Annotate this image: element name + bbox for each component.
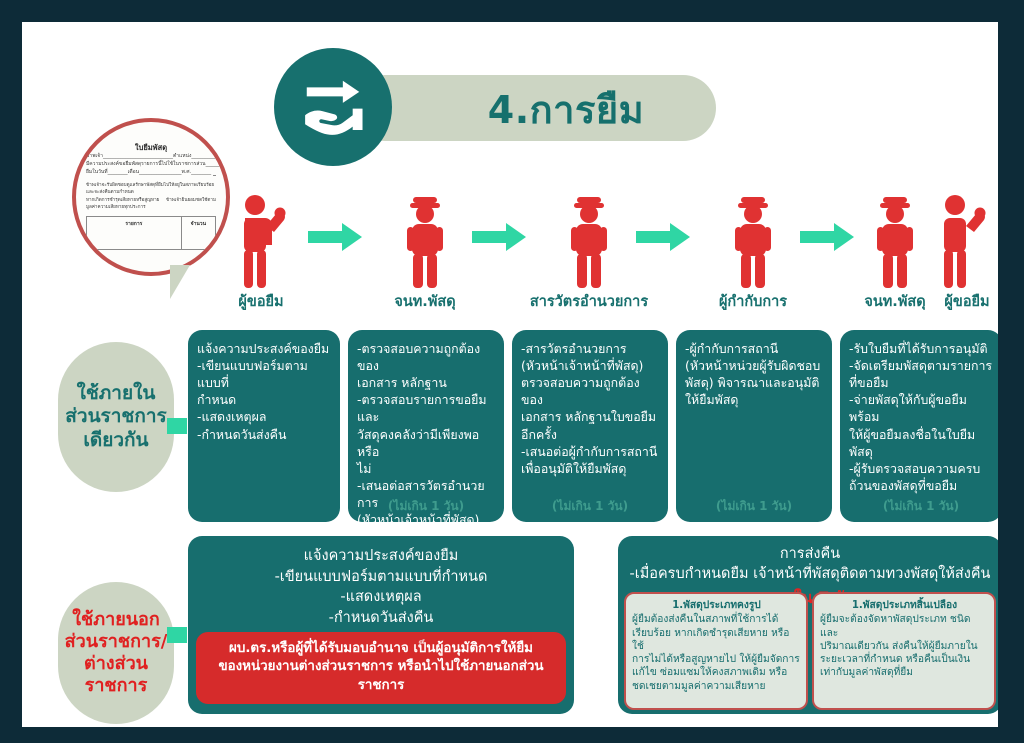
step-line: กำหนด bbox=[197, 391, 331, 408]
step-line: ถ้วนของพัสดุที่ขอยืม bbox=[849, 477, 993, 494]
step-duration-note: (ไม่เกิน 1 วัน) bbox=[512, 498, 668, 515]
sub-box-line: เท่ากับมูลค่าพัสดุที่ยืม bbox=[820, 666, 989, 679]
step-box-1: แจ้งความประสงค์ของยืม -เขียนแบบฟอร์มตามแ… bbox=[188, 330, 340, 522]
callout-line: ผบ.ตร.หรือผู้ที่ได้รับมอบอำนาจ เป็นผู้อน… bbox=[202, 640, 560, 659]
category-line: ใช้ภายนอก bbox=[72, 609, 160, 630]
external-request-box: แจ้งความประสงค์ของยืม -เขียนแบบฟอร์มตามแ… bbox=[188, 536, 574, 714]
step-line: -กำหนดวันส่งคืน bbox=[197, 426, 331, 443]
sub-box-line: ผู้ยืมจะต้องจัดหาพัสดุประเภท ชนิด และ bbox=[820, 613, 989, 640]
request-line: -กำหนดวันส่งคืน bbox=[200, 608, 562, 629]
form-paragraph: หากเกิดการชำรุดเสียหายหรือสูญหาย ข้าพเจ้… bbox=[86, 198, 216, 211]
person-raising-hand-icon bbox=[230, 192, 292, 292]
step-line: ตรวจสอบความถูกต้องของ bbox=[521, 374, 659, 408]
step-line: -จัดเตรียมพัสดุตามรายการ bbox=[849, 357, 993, 374]
arrow-right-icon bbox=[470, 220, 528, 254]
step-duration-note: (ไม่เกิน 1 วัน) bbox=[348, 498, 504, 515]
step-line: ให้ผู้ขอยืมลงชื่อในใบยืมพัสดุ bbox=[849, 426, 993, 460]
step-line: วัสดุคงคลังว่ามีเพียงพอหรือ bbox=[357, 426, 495, 460]
step-line: -จ่ายพัสดุให้กับผู้ขอยืมพร้อม bbox=[849, 391, 993, 425]
step-line: แจ้งความประสงค์ของยืม bbox=[197, 340, 331, 357]
sub-box-line: การไม่ได้หรือสูญหายไป ให้ผู้ยืมจัดการ bbox=[632, 653, 801, 666]
step-line: (หัวหน้าหน่วยผู้รับผิดชอบ bbox=[685, 357, 823, 374]
return-line: การส่งคืน bbox=[628, 544, 992, 564]
form-table: รายการ จำนวน bbox=[86, 216, 216, 250]
step-box-2: -ตรวจสอบความถูกต้องของ เอกสาร หลักฐาน -ต… bbox=[348, 330, 504, 522]
officer-with-cap-icon bbox=[394, 192, 456, 292]
step-line: อีกครั้ง bbox=[521, 426, 659, 443]
officer-with-cap-icon bbox=[864, 192, 926, 292]
step-line: ไม่ bbox=[357, 460, 495, 477]
borrow-form-photo: ใบยืมพัสดุ ข้าพเจ้า_____________________… bbox=[72, 118, 230, 276]
slide-page: 4.การยืม ใบยืมพัสดุ ข้าพเจ้า____________… bbox=[0, 0, 1024, 743]
request-line: -เขียนแบบฟอร์มตามแบบที่กำหนด bbox=[200, 567, 562, 588]
step-duration-note: (ไม่เกิน 1 วัน) bbox=[840, 498, 998, 515]
step-box-3: -สารวัตรอำนวยการ (หัวหน้าเจ้าหน้าที่พัสด… bbox=[512, 330, 668, 522]
category-line: ส่วนราชการ bbox=[65, 405, 166, 427]
step-line: เอกสาร หลักฐาน bbox=[357, 374, 495, 391]
flow-label-1: ผู้ขอยืม bbox=[200, 290, 322, 313]
step-duration-note: (ไม่เกิน 1 วัน) bbox=[676, 498, 832, 515]
arrow-right-icon bbox=[634, 220, 692, 254]
form-table-header: จำนวน bbox=[182, 217, 215, 249]
return-policy-box: การส่งคืน -เมื่อครบกำหนดยืม เจ้าหน้าที่พ… bbox=[618, 536, 998, 714]
officer-with-cap-icon bbox=[558, 192, 620, 292]
step-line: -ตรวจสอบความถูกต้องของ bbox=[357, 340, 495, 374]
sub-box-line: ผู้ยืมต้องส่งคืนในสภาพที่ใช้การได้ bbox=[632, 613, 801, 626]
flow-label-6: ผู้ขอยืม bbox=[922, 290, 998, 313]
request-line: -แสดงเหตุผล bbox=[200, 587, 562, 608]
sub-box-line: ชดเชยตามมูลค่าความเสียหาย bbox=[632, 680, 801, 693]
return-type-durable-box: 1.พัสดุประเภทคงรูป ผู้ยืมต้องส่งคืนในสภา… bbox=[624, 592, 808, 710]
form-paragraph: ข้าพเจ้าจะรับผิดชอบดูแลรักษาพัสดุที่ยืมไ… bbox=[86, 183, 216, 196]
slide-canvas: 4.การยืม ใบยืมพัสดุ ข้าพเจ้า____________… bbox=[22, 22, 998, 727]
form-field-row: ยืมในวันที่________เดือน________________… bbox=[86, 175, 216, 176]
callout-line: ของหน่วยงานต่างส่วนราชการ หรือนำไปใช้ภาย… bbox=[202, 658, 560, 696]
category-line: เดียวกัน bbox=[83, 429, 148, 451]
arrow-right-icon bbox=[306, 220, 364, 254]
step-line: -เสนอต่อผู้กำกับการสถานี bbox=[521, 443, 659, 460]
sub-box-line: แก้ไข ซ่อมแซมให้คงสภาพเดิม หรือ bbox=[632, 666, 801, 679]
category-line: ใช้ภายใน bbox=[77, 382, 156, 404]
step-line: พัสดุ) พิจารณาและอนุมัติ bbox=[685, 374, 823, 391]
step-line: -แสดงเหตุผล bbox=[197, 408, 331, 425]
sub-box-line: ระยะเวลาที่กำหนด หรือคืนเป็นเงิน bbox=[820, 653, 989, 666]
step-line: ให้ยืมพัสดุ bbox=[685, 391, 823, 408]
category-line: ส่วนราชการ/ bbox=[65, 631, 168, 652]
step-line: -ผู้กำกับการสถานี bbox=[685, 340, 823, 357]
connector-tab-external bbox=[167, 627, 187, 643]
step-box-4: -ผู้กำกับการสถานี (หัวหน้าหน่วยผู้รับผิด… bbox=[676, 330, 832, 522]
step-line: เอกสาร หลักฐานใบขอยืม bbox=[521, 408, 659, 425]
page-title: 4.การยืม bbox=[426, 82, 706, 136]
callout-pointer bbox=[170, 265, 190, 299]
category-internal-label: ใช้ภายใน ส่วนราชการ เดียวกัน bbox=[58, 342, 174, 492]
hand-receive-arrow-icon bbox=[274, 48, 392, 166]
flow-label-3: สารวัตรอำนวยการ bbox=[513, 290, 665, 313]
flow-label-4: ผู้กำกับการ bbox=[684, 290, 822, 313]
connector-tab-internal bbox=[167, 418, 187, 434]
person-raising-hand-icon bbox=[930, 192, 992, 292]
step-line: (หัวหน้าเจ้าหน้าที่พัสดุ) bbox=[521, 357, 659, 374]
step-line: -รับใบยืมที่ได้รับการอนุมัติ bbox=[849, 340, 993, 357]
arrow-right-icon bbox=[798, 220, 856, 254]
sub-box-line: ปริมาณเดียวกัน ส่งคืนให้ผู้ยืมภายใน bbox=[820, 640, 989, 653]
step-line: -เขียนแบบฟอร์มตามแบบที่ bbox=[197, 357, 331, 391]
authority-callout: ผบ.ตร.หรือผู้ที่ได้รับมอบอำนาจ เป็นผู้อน… bbox=[196, 632, 566, 704]
return-type-consumable-box: 1.พัสดุประเภทสิ้นเปลือง ผู้ยืมจะต้องจัดห… bbox=[812, 592, 996, 710]
sub-box-line: เรียบร้อย หากเกิดชำรุดเสียหาย หรือใช้ bbox=[632, 627, 801, 654]
form-table-header: รายการ bbox=[87, 217, 182, 249]
officer-with-cap-icon bbox=[722, 192, 784, 292]
sub-box-heading: 1.พัสดุประเภทสิ้นเปลือง bbox=[820, 599, 989, 612]
step-line: -ผู้รับตรวจสอบความครบ bbox=[849, 460, 993, 477]
return-heading: การส่งคืน -เมื่อครบกำหนดยืม เจ้าหน้าที่พ… bbox=[628, 544, 992, 585]
category-line: ต่างส่วน bbox=[84, 653, 148, 674]
step-line: -ตรวจสอบรายการขอยืมและ bbox=[357, 391, 495, 425]
step-box-5: -รับใบยืมที่ได้รับการอนุมัติ -จัดเตรียมพ… bbox=[840, 330, 998, 522]
category-external-label: ใช้ภายนอก ส่วนราชการ/ ต่างส่วน ราชการ bbox=[58, 582, 174, 724]
step-line: ที่ขอยืม bbox=[849, 374, 993, 391]
request-line: แจ้งความประสงค์ของยืม bbox=[200, 546, 562, 567]
sub-box-heading: 1.พัสดุประเภทคงรูป bbox=[632, 599, 801, 612]
flow-label-2: จนท.พัสดุ bbox=[364, 290, 486, 313]
return-line: -เมื่อครบกำหนดยืม เจ้าหน้าที่พัสดุติดตาม… bbox=[628, 564, 992, 584]
external-request-text: แจ้งความประสงค์ของยืม -เขียนแบบฟอร์มตามแ… bbox=[200, 546, 562, 628]
category-line: ราชการ bbox=[85, 675, 148, 696]
step-line: เพื่ออนุมัติให้ยืมพัสดุ bbox=[521, 460, 659, 477]
step-line: -สารวัตรอำนวยการ bbox=[521, 340, 659, 357]
